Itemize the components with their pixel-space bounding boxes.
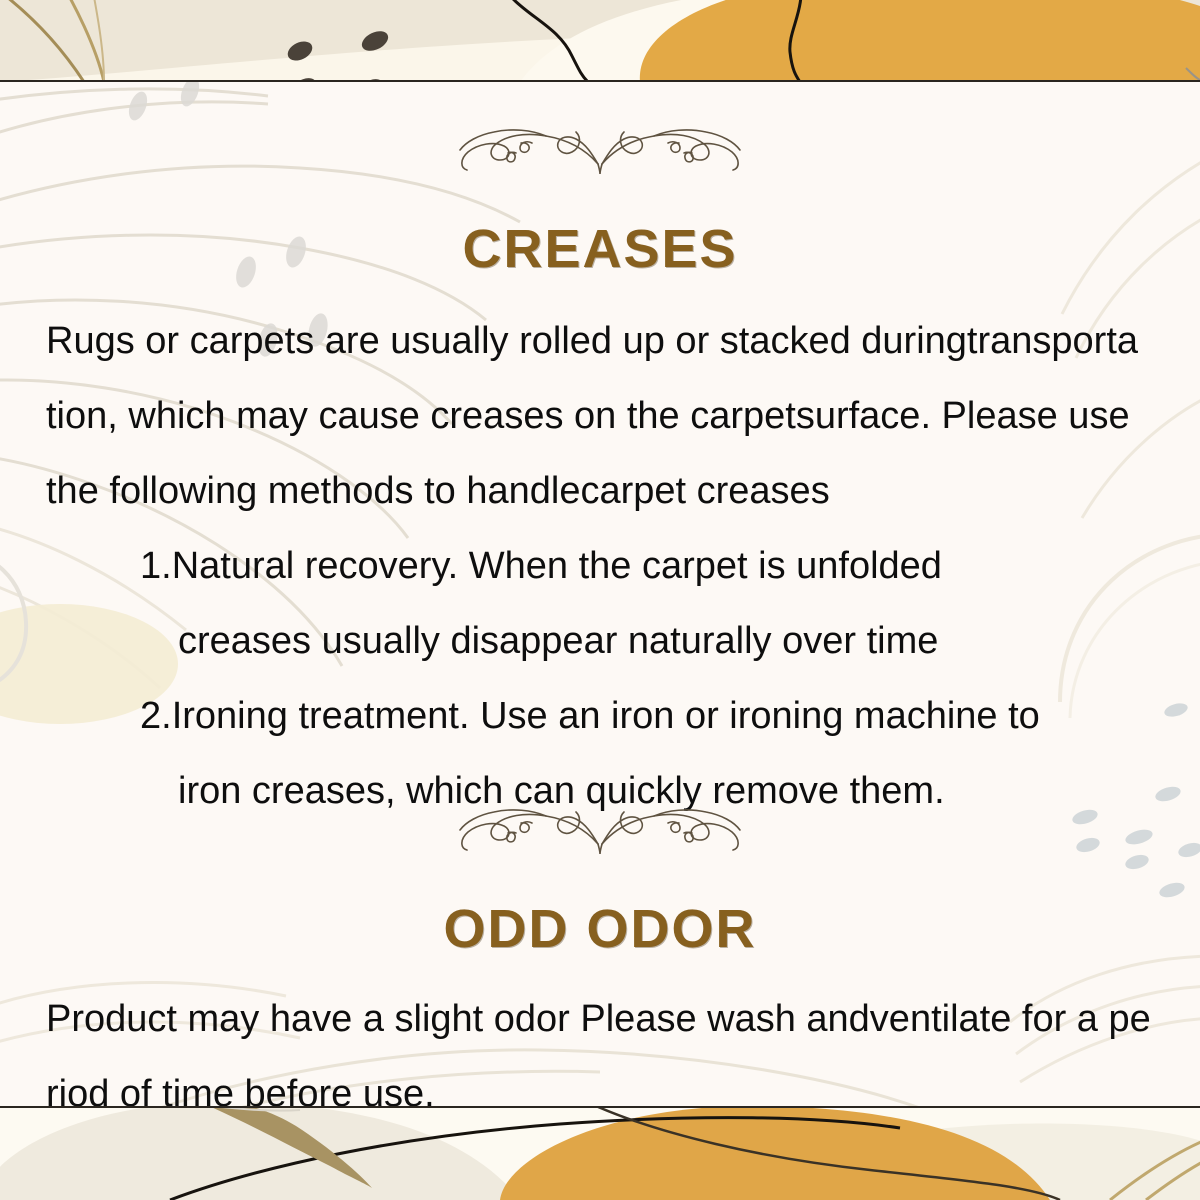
bottom-band-art: [0, 1108, 1200, 1200]
care-instruction-card: CREASES Rugs or carpets are usually roll…: [0, 0, 1200, 1200]
body-line: Product may have a slight odor Please wa…: [0, 982, 1200, 1057]
list-item-1-continuation: creases usually disappear naturally over…: [0, 604, 1200, 679]
section-odd-odor: ODD ODOR Product may have a slight odor …: [0, 800, 1200, 1132]
top-band-art: [0, 0, 1200, 82]
body-line: the following methods to handlecarpet cr…: [0, 454, 1200, 529]
top-decorative-band: [0, 0, 1200, 82]
bottom-decorative-band: [0, 1108, 1200, 1200]
body-line: Rugs or carpets are usually rolled up or…: [0, 304, 1200, 379]
section-creases: CREASES Rugs or carpets are usually roll…: [0, 120, 1200, 829]
section-title-odd-odor: ODD ODOR: [0, 902, 1200, 956]
flourish-divider-icon-top: [0, 120, 1200, 176]
list-item-1: 1.Natural recovery. When the carpet is u…: [0, 529, 1200, 604]
body-line: tion, which may cause creases on the car…: [0, 379, 1200, 454]
flourish-divider-svg: [420, 800, 780, 856]
section-title-creases: CREASES: [0, 222, 1200, 276]
list-item-2: 2.Ironing treatment. Use an iron or iron…: [0, 679, 1200, 754]
content-area: CREASES Rugs or carpets are usually roll…: [0, 82, 1200, 1108]
creases-body: Rugs or carpets are usually rolled up or…: [0, 304, 1200, 829]
flourish-divider-icon-bottom: [0, 800, 1200, 856]
flourish-divider-svg: [420, 120, 780, 176]
